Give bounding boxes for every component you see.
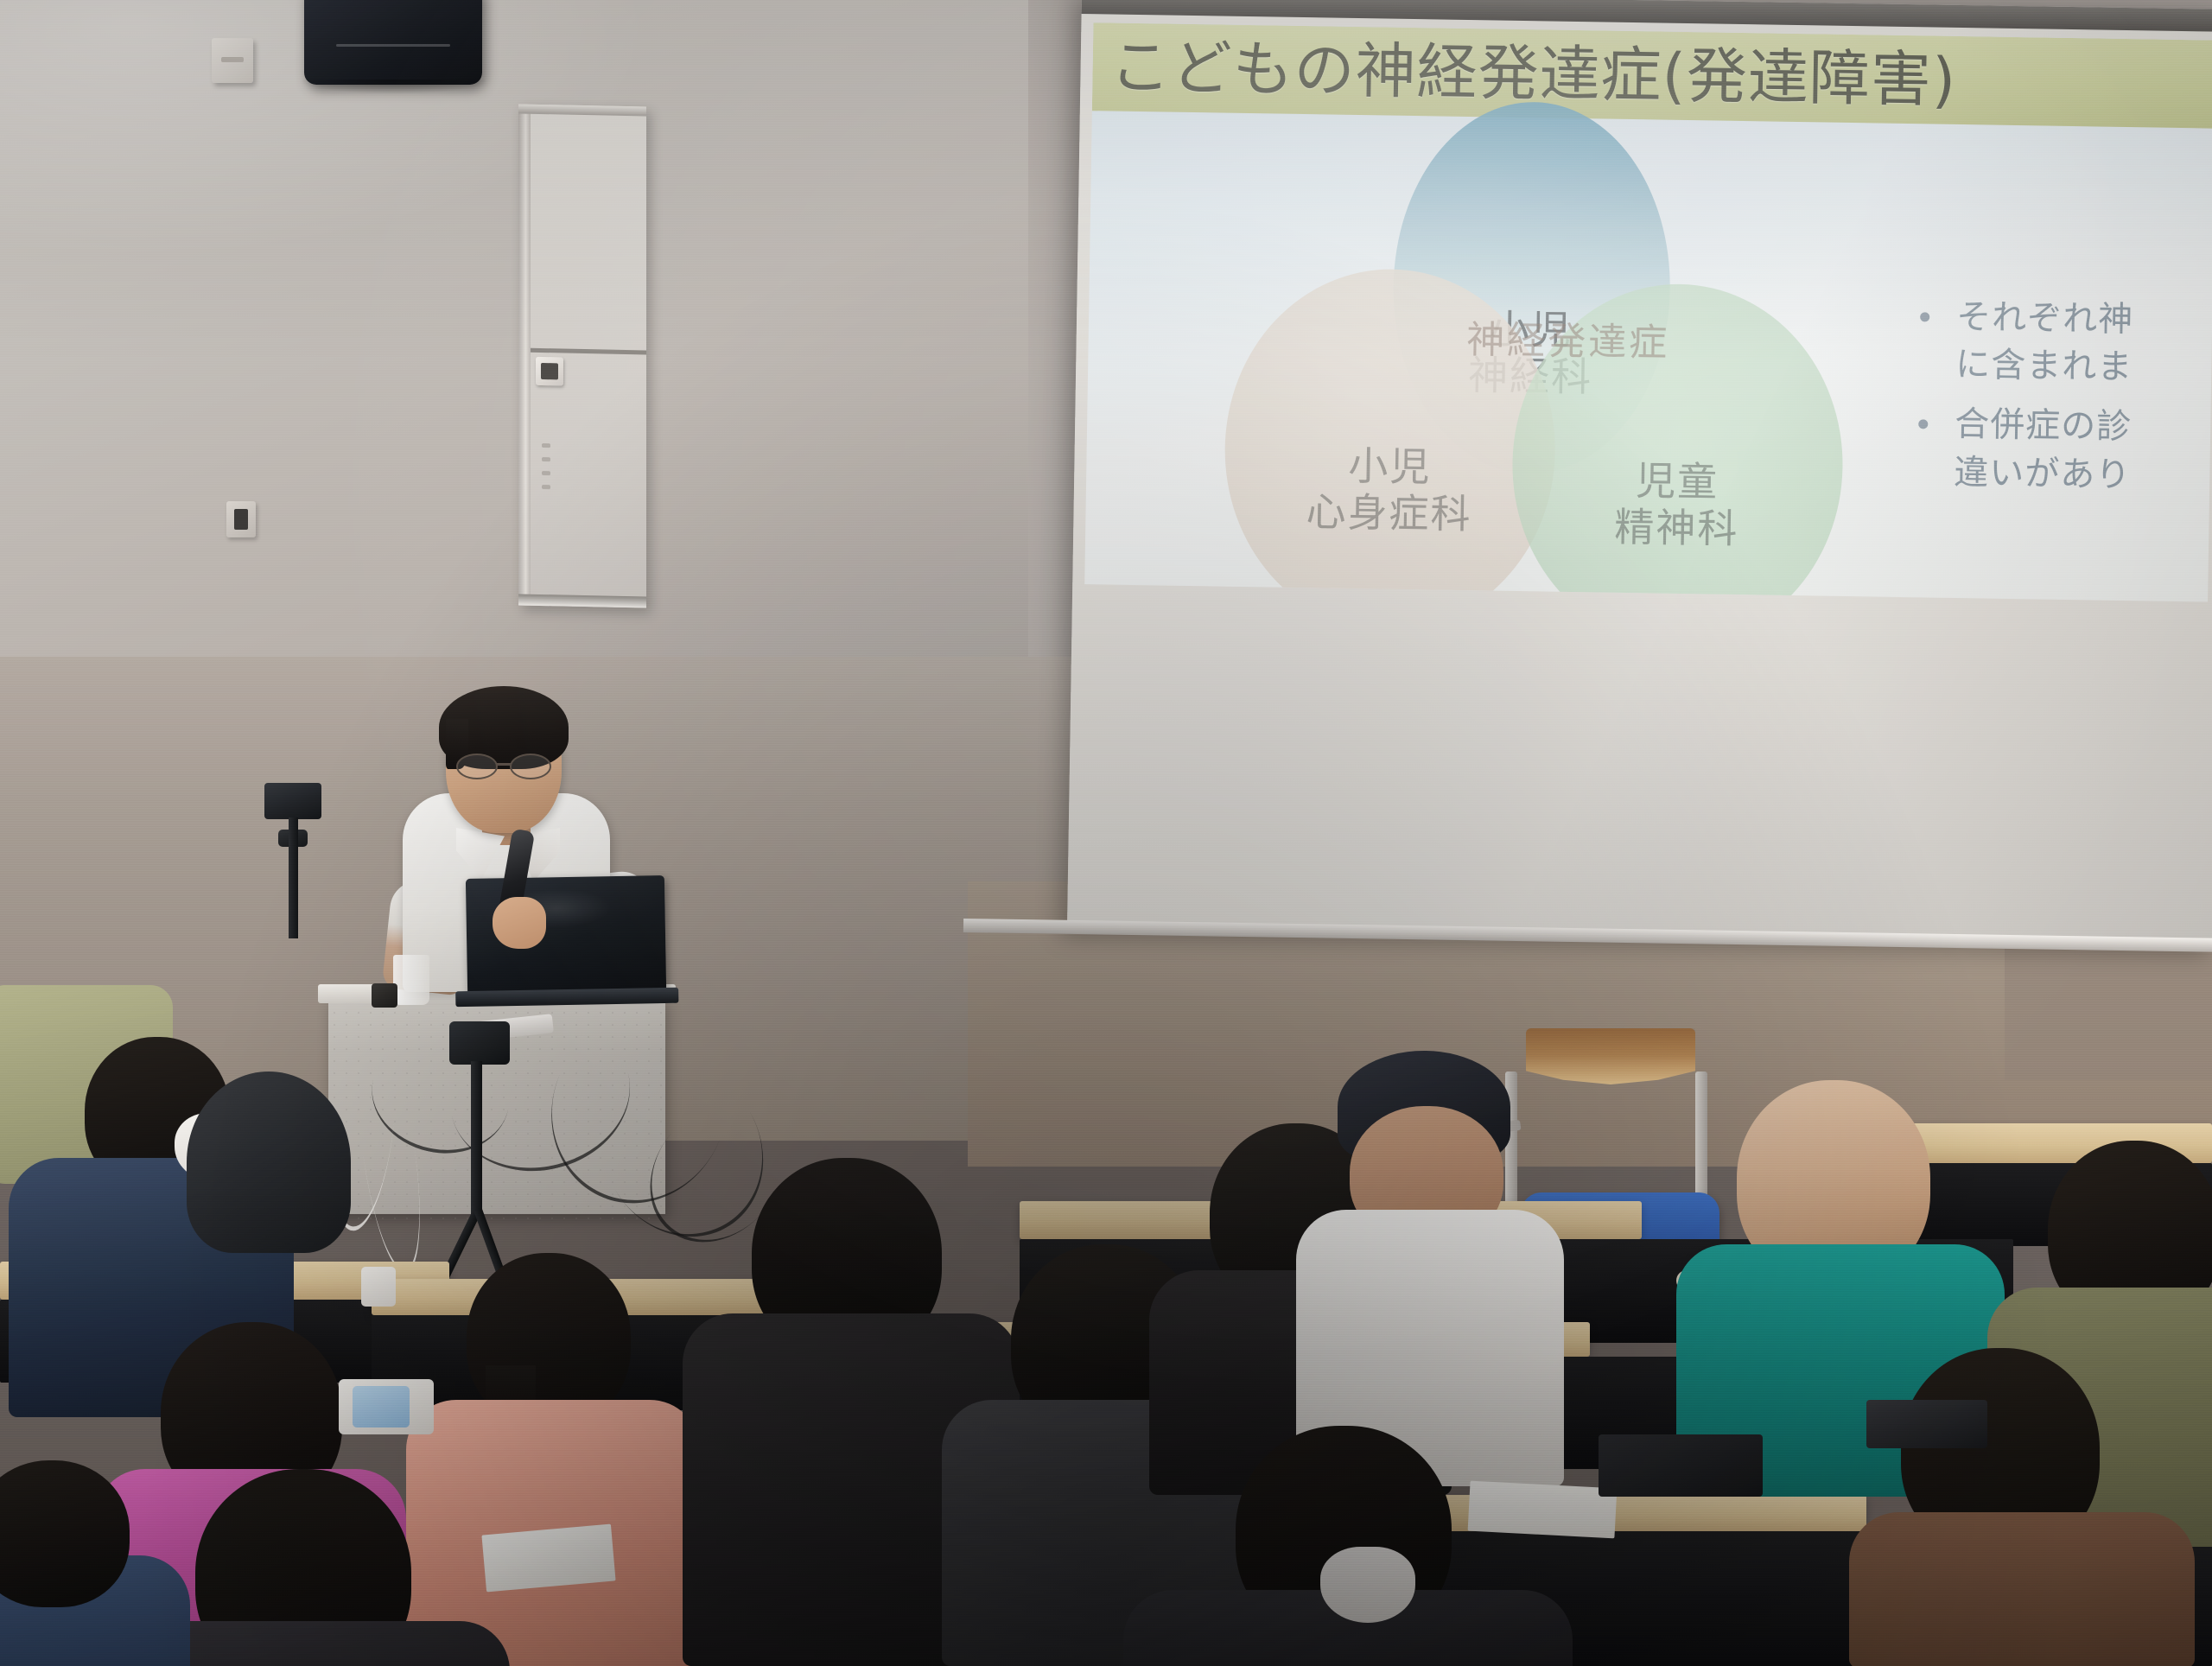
water-cup bbox=[393, 955, 429, 1005]
slide-title-band: こどもの神経発達症(発達障害) bbox=[1092, 22, 2212, 128]
board-frame-top bbox=[518, 104, 646, 116]
smartphone-icon[interactable] bbox=[353, 1386, 410, 1428]
projected-slide: こどもの神経発達症(発達障害) 小児 神経科 小児 心身症科 児童 精神科 神経… bbox=[1084, 22, 2212, 601]
light-switch-icon[interactable] bbox=[226, 501, 256, 537]
presenter-hand bbox=[493, 897, 546, 949]
venn-center-label: 神経発達症 bbox=[1425, 308, 1711, 367]
paper-sheet-left bbox=[481, 1524, 615, 1593]
venn-circle-left-line2: 心身症科 bbox=[1306, 488, 1472, 537]
venn-circle-right-line1: 児童 bbox=[1636, 457, 1719, 506]
venn-diagram: 小児 神経科 小児 心身症科 児童 精神科 神経発達症 それぞれ神 に含まれま bbox=[1084, 111, 2212, 601]
slide-bullet-2: 合併症の診 違いがあり bbox=[1907, 400, 2212, 501]
slide-title: こどもの神経発達症(発達障害) bbox=[1092, 36, 1957, 111]
tripod-center-pole bbox=[471, 1061, 482, 1217]
tablet-on-desk[interactable] bbox=[1866, 1400, 1987, 1448]
attendee-brown-right-torso bbox=[1849, 1512, 2195, 1666]
slide-bullet-1-line1: それぞれ神 bbox=[1956, 294, 2212, 347]
board-marker-tray bbox=[542, 443, 554, 511]
venn-circle-left-line1: 小児 bbox=[1348, 442, 1432, 491]
tripod-head-camera bbox=[449, 1021, 510, 1065]
small-device-on-podium bbox=[372, 983, 397, 1008]
wall-whiteboard-panel bbox=[518, 104, 646, 607]
ceiling-speaker-icon bbox=[304, 0, 482, 85]
pull-down-projection-screen: こどもの神経発達症(発達障害) 小児 神経科 小児 心身症科 児童 精神科 神経… bbox=[1067, 0, 2212, 947]
eyeglasses-icon bbox=[453, 754, 555, 776]
slide-bullet-2-line1: 合併症の診 bbox=[1955, 401, 2212, 454]
slide-bullet-1-line2: に含まれま bbox=[1955, 341, 2212, 394]
slide-bullet-2-line2: 違いがあり bbox=[1954, 448, 2212, 501]
lecture-hall-photo: こどもの神経発達症(発達障害) 小児 神経科 小児 心身症科 児童 精神科 神経… bbox=[0, 0, 2212, 1666]
attendee-suit-bottom-facemask bbox=[1320, 1547, 1415, 1623]
ceiling-speaker-shadow bbox=[302, 79, 486, 93]
hair-clip-icon bbox=[361, 1267, 396, 1307]
board-control-box-icon[interactable] bbox=[536, 357, 563, 386]
office-chair-back bbox=[187, 1071, 351, 1253]
board-divider bbox=[531, 348, 646, 355]
board-frame-left bbox=[518, 104, 531, 605]
slide-bullet-list: それぞれ神 に含まれま 合併症の診 違いがあり bbox=[1907, 293, 2212, 513]
camera-icon bbox=[264, 783, 321, 819]
laptop-on-desk[interactable] bbox=[1599, 1434, 1763, 1497]
wall-sensor-plate-icon bbox=[212, 38, 253, 83]
venn-circle-right-line2: 精神科 bbox=[1614, 504, 1739, 553]
paper-sheet-center bbox=[1468, 1481, 1618, 1539]
camera-stand-pole bbox=[289, 817, 298, 938]
slide-bullet-1: それぞれ神 に含まれま bbox=[1909, 293, 2212, 394]
